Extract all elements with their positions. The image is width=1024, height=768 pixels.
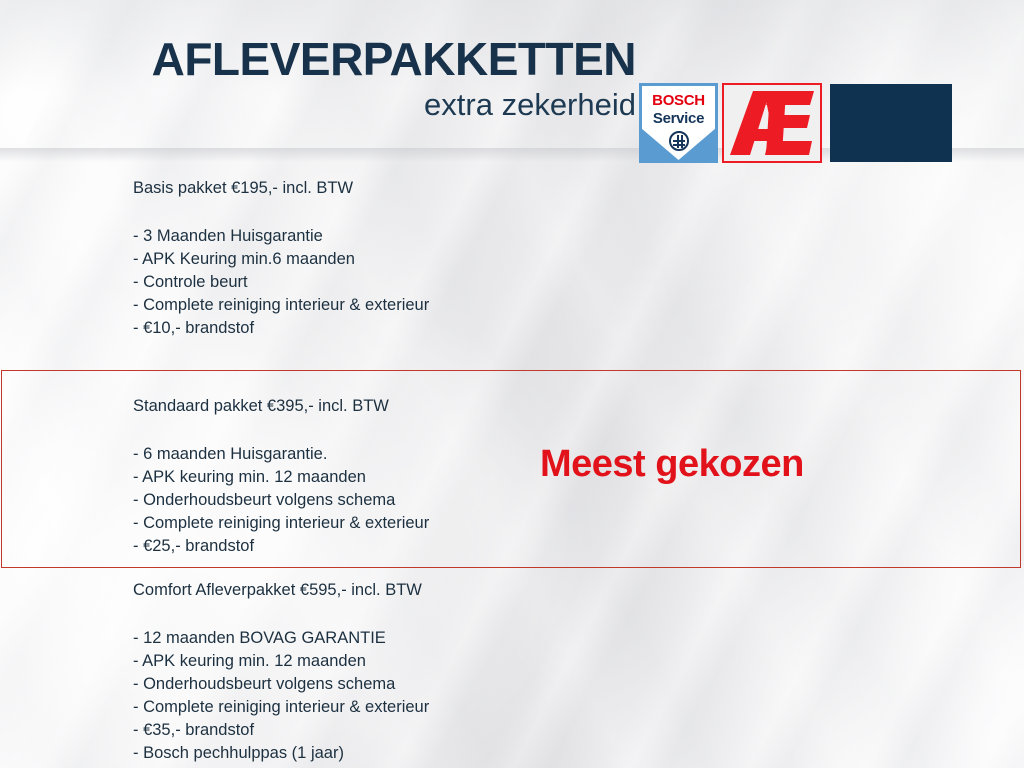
list-item: - Onderhoudsbeurt volgens schema (133, 673, 429, 696)
bosch-wordmark: BOSCH (639, 92, 718, 109)
package-title: Basis pakket €195,- incl. BTW (133, 178, 429, 198)
ae-logo (722, 83, 822, 163)
list-item: - 3 Maanden Huisgarantie (133, 225, 429, 248)
list-item: - Onderhoudsbeurt volgens schema (133, 489, 429, 512)
package-standaard: Standaard pakket €395,- incl. BTW - 6 ma… (133, 396, 429, 558)
highlight-label: Meest gekozen (540, 443, 804, 486)
list-item: - Controle beurt (133, 271, 429, 294)
bosch-armature-icon (669, 131, 689, 151)
list-item: - 6 maanden Huisgarantie. (133, 443, 429, 466)
list-item: - €35,- brandstof (133, 719, 429, 742)
package-feature-list: - 6 maanden Huisgarantie. - APK keuring … (133, 443, 429, 558)
list-item: - APK Keuring min.6 maanden (133, 248, 429, 271)
list-item: - APK keuring min. 12 maanden (133, 650, 429, 673)
list-item: - Complete reiniging interieur & exterie… (133, 696, 429, 719)
list-item: - Complete reiniging interieur & exterie… (133, 512, 429, 535)
bosch-service-text: Service (639, 110, 718, 127)
package-feature-list: - 3 Maanden Huisgarantie - APK Keuring m… (133, 225, 429, 340)
list-item: - €10,- brandstof (133, 317, 429, 340)
package-title: Standaard pakket €395,- incl. BTW (133, 396, 429, 416)
ae-monogram-icon (724, 85, 820, 161)
list-item: - Complete reiniging interieur & exterie… (133, 294, 429, 317)
package-comfort: Comfort Afleverpakket €595,- incl. BTW -… (133, 580, 429, 765)
title-subtitle: extra zekerheid (88, 86, 636, 124)
package-title: Comfort Afleverpakket €595,- incl. BTW (133, 580, 429, 600)
list-item: - €25,- brandstof (133, 535, 429, 558)
slide-canvas: AFLEVERPAKKETTEN extra zekerheid BOSCH S… (0, 0, 1024, 768)
list-item: - 12 maanden BOVAG GARANTIE (133, 627, 429, 650)
header: AFLEVERPAKKETTEN extra zekerheid BOSCH S… (0, 34, 1024, 146)
list-item: - APK keuring min. 12 maanden (133, 466, 429, 489)
list-item: - Bosch pechhulppas (1 jaar) (133, 742, 429, 765)
navy-block-logo (830, 84, 952, 162)
page-title: AFLEVERPAKKETTEN extra zekerheid (88, 34, 636, 124)
package-feature-list: - 12 maanden BOVAG GARANTIE - APK keurin… (133, 627, 429, 765)
bosch-top-stripe (639, 83, 718, 86)
title-main: AFLEVERPAKKETTEN (88, 34, 636, 84)
package-basis: Basis pakket €195,- incl. BTW - 3 Maande… (133, 178, 429, 340)
bosch-service-logo: BOSCH Service (639, 83, 718, 163)
